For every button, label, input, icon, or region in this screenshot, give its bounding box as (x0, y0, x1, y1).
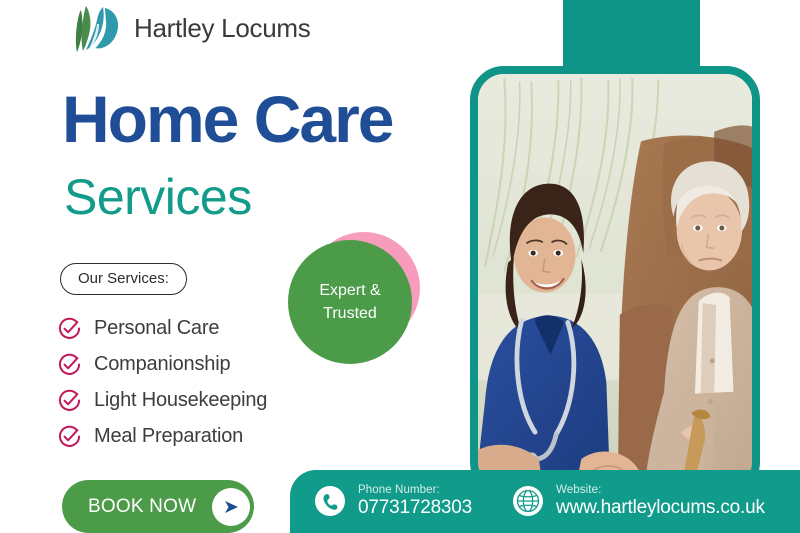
services-list: Personal Care Companionship Light Housek… (58, 310, 267, 454)
hero-photo (470, 66, 760, 496)
home-care-services-poster: Hartley Locums Home Care Services Our Se… (0, 0, 800, 533)
check-circle-icon (58, 389, 81, 412)
check-circle-icon (58, 317, 81, 340)
website-label: Website: (556, 484, 765, 497)
list-item-label: Light Housekeeping (94, 389, 267, 412)
book-now-label: BOOK NOW (88, 496, 196, 518)
contact-footer: Phone Number: 07731728303 Web (290, 470, 800, 533)
badge-line-2: Trusted (323, 302, 377, 325)
phone-label: Phone Number: (358, 484, 472, 497)
leaf-circle-logo-icon (72, 2, 124, 54)
list-item: Companionship (58, 346, 267, 382)
list-item: Light Housekeeping (58, 382, 267, 418)
globe-icon (512, 485, 544, 517)
page-title: Home Care (62, 86, 392, 152)
badge-green-circle: Expert & Trusted (288, 240, 412, 364)
check-circle-icon (58, 425, 81, 448)
brand-name: Hartley Locums (134, 13, 310, 44)
list-item-label: Companionship (94, 353, 230, 376)
check-circle-icon (58, 353, 81, 376)
badge-line-1: Expert & (319, 279, 380, 302)
play-arrow-icon (212, 488, 250, 526)
book-now-button[interactable]: BOOK NOW (62, 480, 254, 533)
expert-trusted-badge: Expert & Trusted (288, 232, 420, 364)
phone-contact[interactable]: Phone Number: 07731728303 (314, 484, 472, 518)
website-contact[interactable]: Website: www.hartleylocums.co.uk (512, 484, 765, 518)
list-item-label: Personal Care (94, 317, 219, 340)
page-subtitle: Services (64, 172, 252, 222)
brand-logo[interactable]: Hartley Locums (72, 2, 310, 54)
website-value: www.hartleylocums.co.uk (556, 497, 765, 518)
list-item-label: Meal Preparation (94, 425, 243, 448)
phone-value: 07731728303 (358, 497, 472, 518)
our-services-pill: Our Services: (60, 263, 187, 295)
list-item: Personal Care (58, 310, 267, 346)
phone-circle-icon (314, 485, 346, 517)
list-item: Meal Preparation (58, 418, 267, 454)
